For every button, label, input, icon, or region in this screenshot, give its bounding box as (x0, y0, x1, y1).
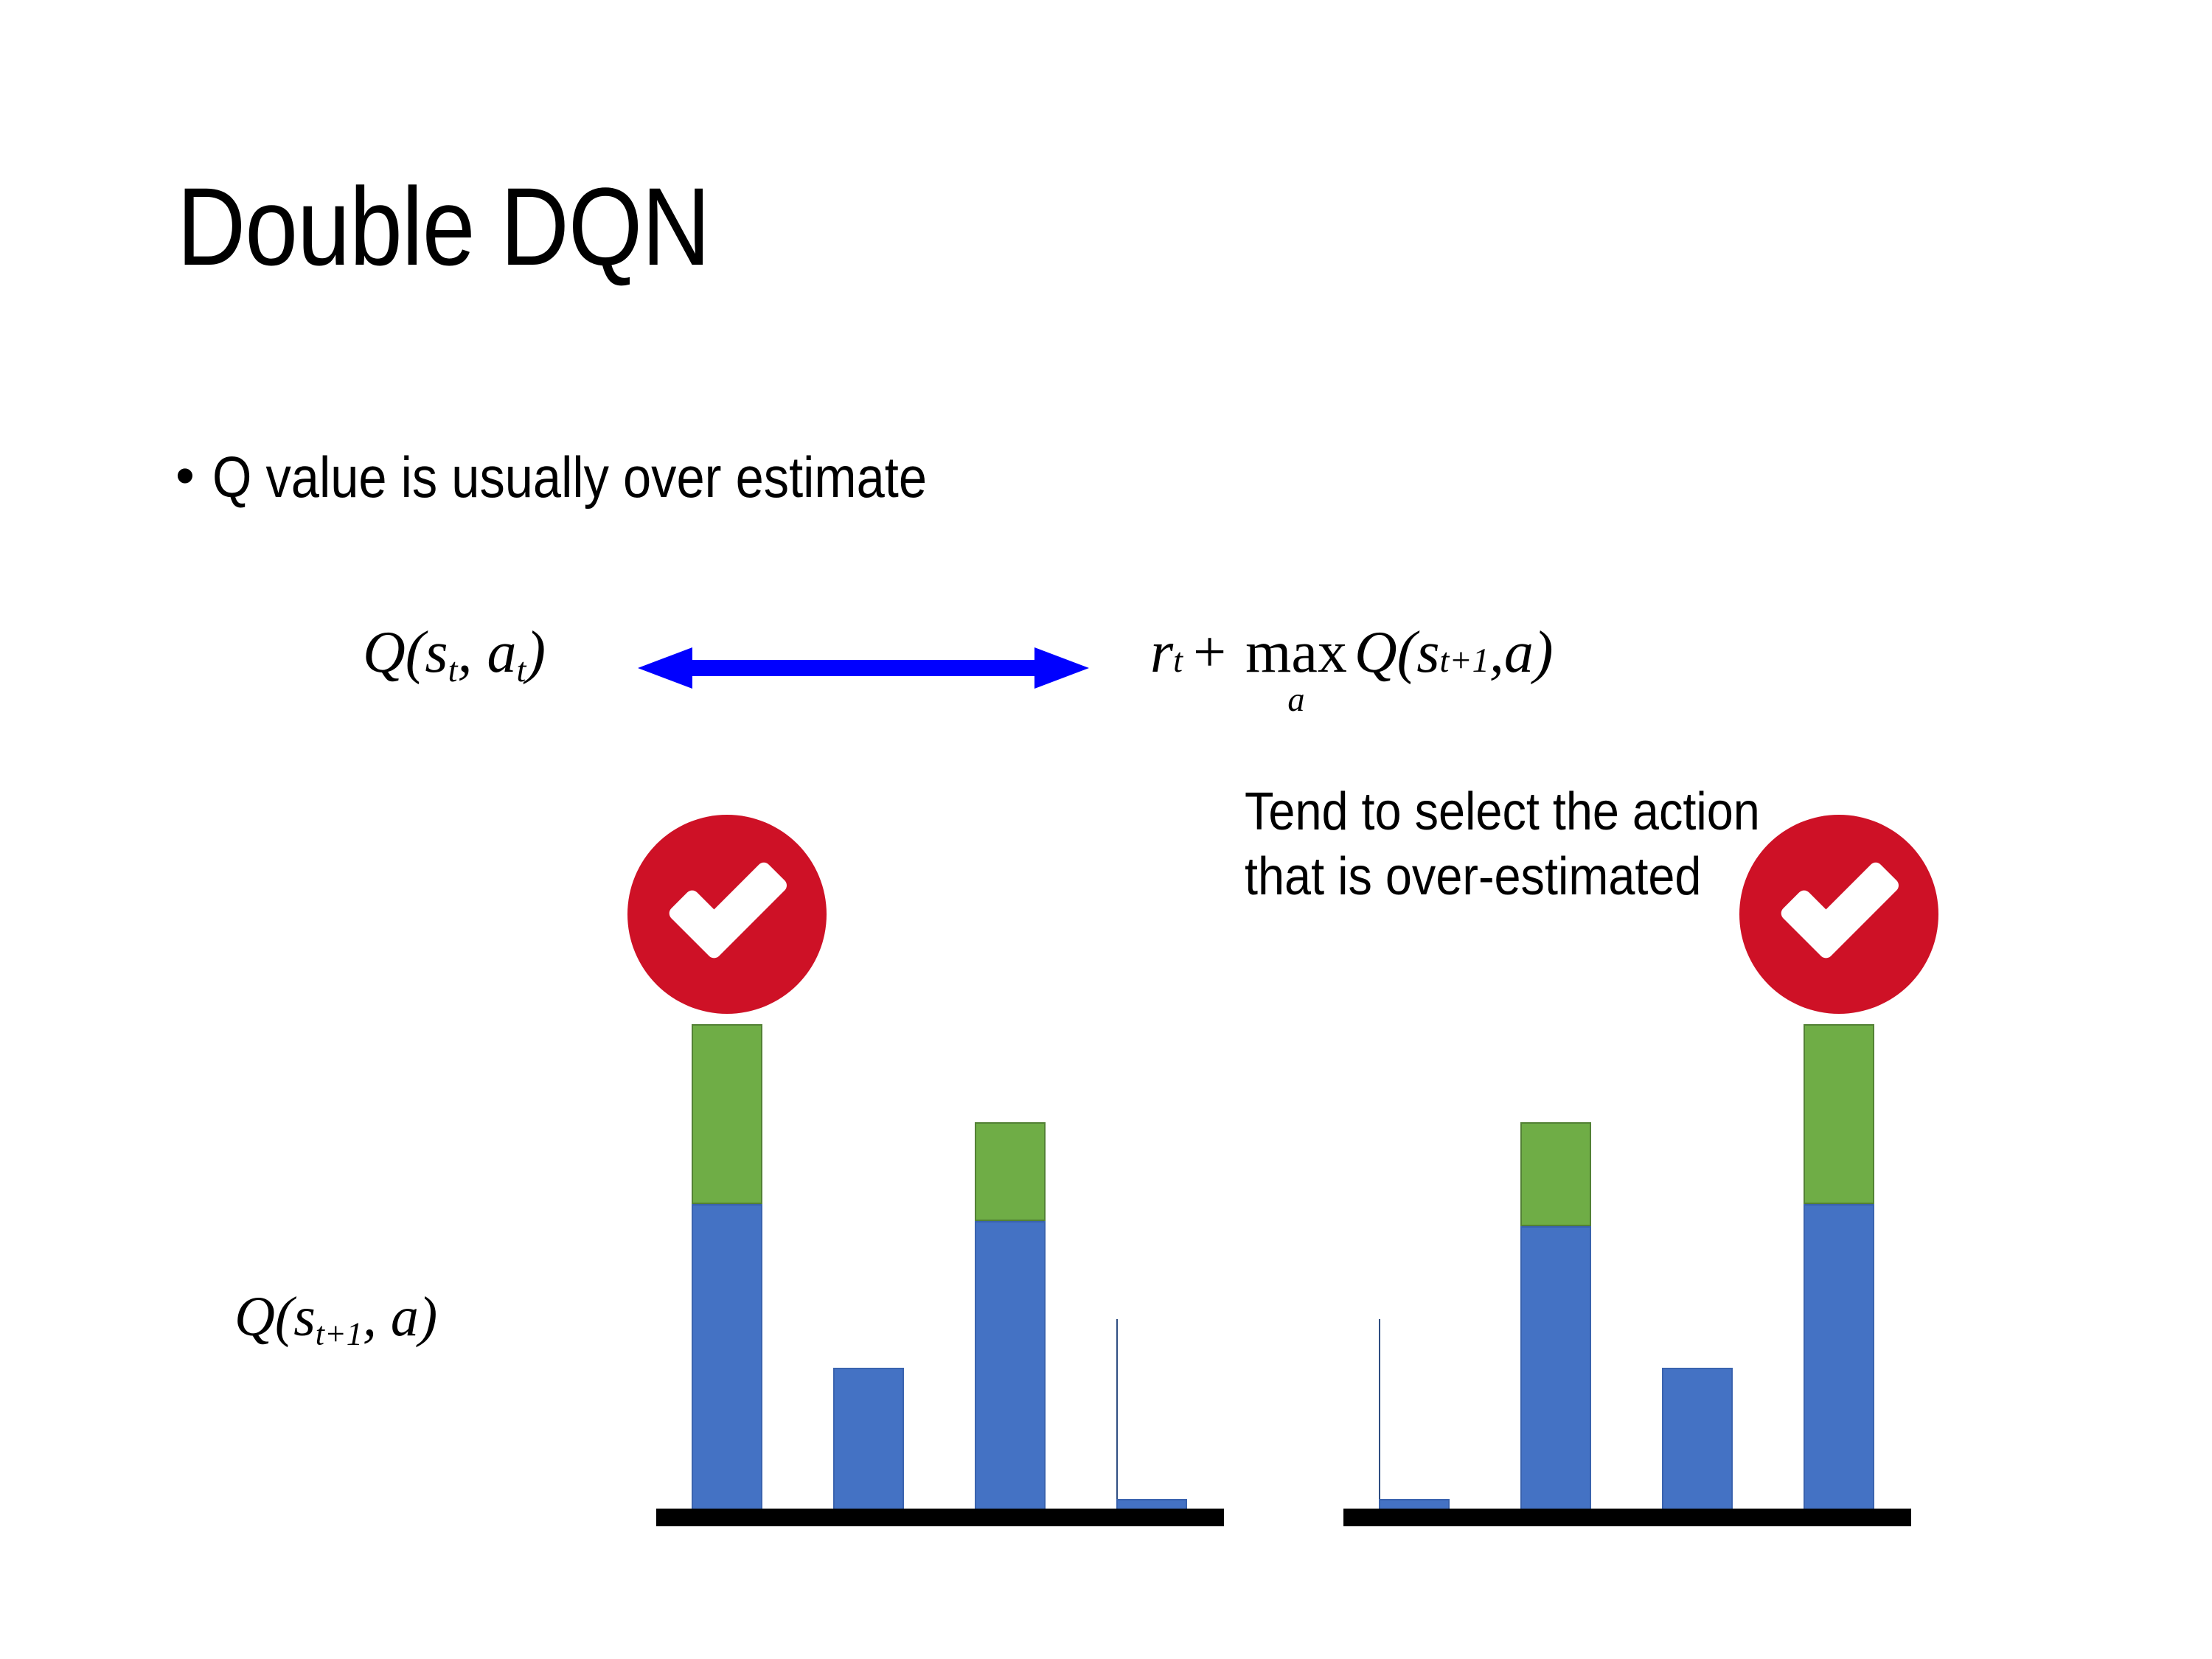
chart-label-state-subscript: t+1 (316, 1315, 363, 1352)
bar-chart-right (1343, 951, 1926, 1526)
chart-bar[interactable] (1520, 1122, 1591, 1526)
eq-left-q: Q (363, 620, 406, 685)
eq-right-action: a (1504, 623, 1534, 682)
equation-right-side: rt + max a Q(st+1, a) (1150, 623, 1553, 717)
bar-chart-left (656, 951, 1239, 1526)
chart-label-close-paren: ) (419, 1286, 437, 1348)
check-badge-icon (1739, 815, 1938, 1014)
chart-label-action: a (391, 1286, 419, 1348)
chart-bar-segment-overestimate (975, 1122, 1046, 1220)
eq-right-reward-subscript: t (1173, 644, 1183, 678)
chart-bar-segment-base (833, 1368, 904, 1526)
check-badge-icon (627, 815, 827, 1014)
chart-bar-segment-base (1804, 1204, 1874, 1526)
eq-left-action-subscript: t (516, 652, 526, 689)
eq-right-max-subscript: a (1287, 684, 1304, 717)
chart-label-state: s (293, 1286, 316, 1348)
eq-left-open-paren: ( (406, 620, 425, 685)
chart-baseline (1343, 1509, 1911, 1526)
double-headed-arrow-icon (638, 647, 1089, 689)
eq-left-action: a (487, 620, 516, 685)
chart-bar[interactable] (692, 1024, 762, 1526)
chart-bar[interactable] (833, 1368, 904, 1526)
annotation-text: Tend to select the action that is over-e… (1245, 780, 1760, 910)
eq-left-close-paren: ) (526, 620, 546, 685)
annotation-line-1: Tend to select the action (1245, 780, 1760, 845)
eq-right-state: s (1416, 623, 1439, 682)
chart-bar[interactable] (975, 1122, 1046, 1526)
equation-left-side: Q(st, at) (363, 623, 546, 688)
eq-right-state-subscript: t+1 (1439, 644, 1489, 678)
chart-bar-segment-base (1520, 1226, 1591, 1526)
bullet-marker-icon: • (175, 448, 195, 503)
eq-right-q: Q (1354, 623, 1397, 682)
eq-right-comma: , (1489, 623, 1504, 682)
chart-bar-segment-overestimate (1804, 1024, 1874, 1204)
eq-right-plus-sign: + (1193, 623, 1226, 682)
bullet-item: • Q value is usually over estimate (175, 448, 1024, 506)
page-title: Double DQN (177, 171, 710, 282)
slide-canvas: Double DQN • Q value is usually over est… (0, 0, 2212, 1659)
eq-left-state: s (425, 620, 448, 685)
eq-right-reward: r (1150, 623, 1173, 682)
bar-outline-stub (1379, 1319, 1380, 1526)
chart-label-comma: , (363, 1286, 391, 1348)
chart-label-open-paren: ( (275, 1286, 293, 1348)
chart-label-q: Q (234, 1286, 275, 1348)
bullet-item-label: Q value is usually over estimate (212, 448, 927, 506)
eq-right-max-operator: max a (1245, 623, 1347, 717)
chart-bar-segment-base (1662, 1368, 1733, 1526)
eq-left-comma: , (457, 620, 487, 685)
annotation-line-2: that is over-estimated (1245, 845, 1760, 910)
chart-bar[interactable] (1662, 1368, 1733, 1526)
chart-baseline (656, 1509, 1224, 1526)
eq-right-close-paren: ) (1534, 623, 1554, 682)
eq-right-max-label: max (1245, 623, 1347, 682)
chart-bar[interactable] (1804, 1024, 1874, 1526)
chart-bar-segment-base (975, 1221, 1046, 1526)
chart-bar-segment-overestimate (1520, 1122, 1591, 1226)
chart-bar-segment-overestimate (692, 1024, 762, 1204)
eq-right-open-paren: ( (1397, 623, 1417, 682)
eq-left-state-subscript: t (448, 652, 458, 689)
chart-bar-segment-base (692, 1204, 762, 1526)
bar-outline-stub (1116, 1319, 1118, 1526)
chart-y-axis-label: Q(st+1, a) (234, 1289, 437, 1350)
